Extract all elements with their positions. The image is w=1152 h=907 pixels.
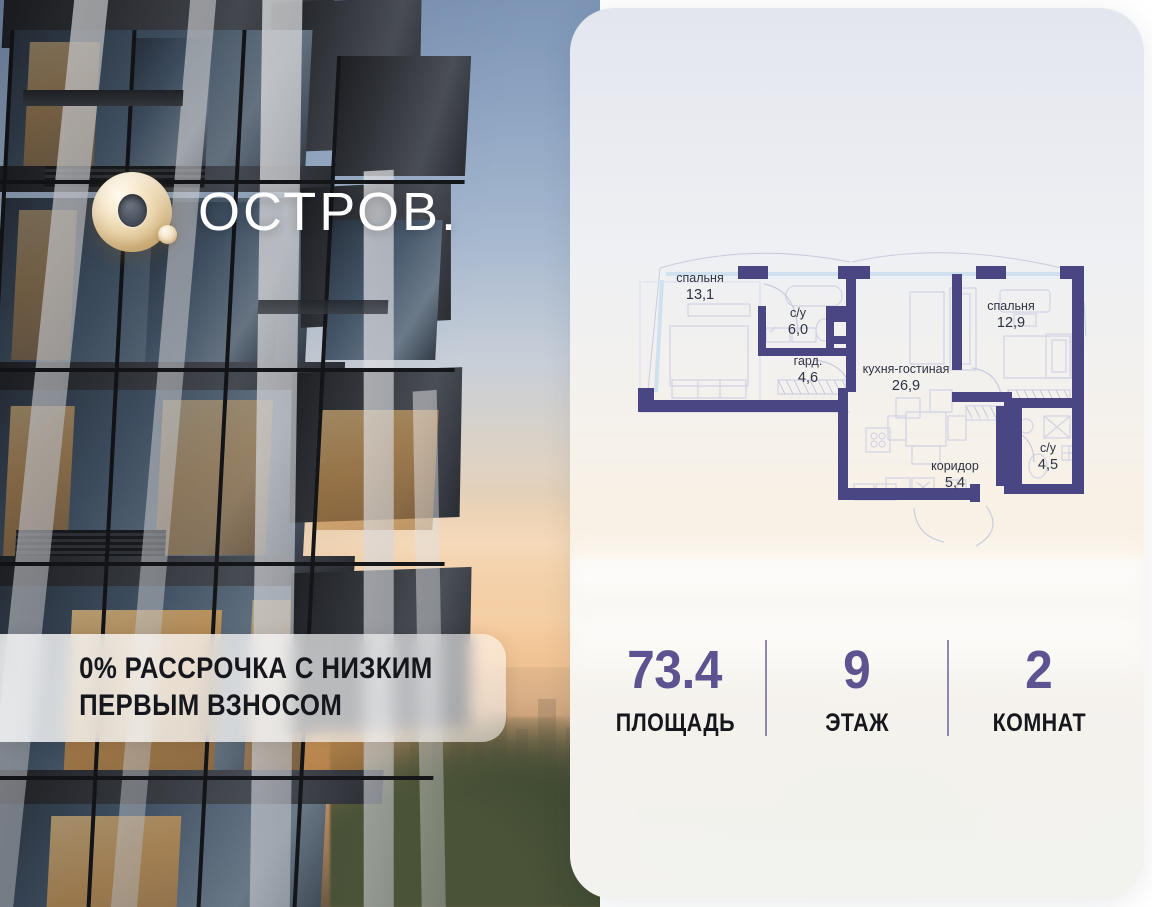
room-label: кухня-гостиная [863, 362, 950, 376]
brand-name: ОСТРОВ. [198, 185, 459, 239]
room-area: 13,1 [686, 287, 714, 303]
promo-banner-page: ОСТРОВ. 0% РАССРОЧКА С НИЗКИМ ПЕРВЫМ ВЗН… [0, 0, 1152, 907]
promo-offer-banner[interactable]: 0% РАССРОЧКА С НИЗКИМ ПЕРВЫМ ВЗНОСОМ [0, 634, 506, 742]
stat-label: ЭТАЖ [825, 709, 889, 738]
room-label: гард. [794, 354, 823, 368]
room-label: с/у [1040, 441, 1057, 455]
building-render-photo [0, 0, 600, 907]
stat-value: 2 [1025, 643, 1052, 697]
stat-divider [765, 640, 767, 736]
floor-plan[interactable]: спальня 13,1 с/у 6,0 гард. 4,6 кухня-гос… [600, 240, 1114, 552]
torus-ring-icon [92, 172, 172, 252]
stat-label: ПЛОЩАДЬ [615, 709, 734, 738]
room-label: спальня [676, 271, 723, 285]
stat-label: КОМНАТ [992, 709, 1085, 738]
room-label: спальня [987, 299, 1034, 313]
room-area: 26,9 [892, 378, 920, 394]
stat-value: 9 [843, 643, 870, 697]
brand-logo[interactable]: ОСТРОВ. [92, 172, 459, 252]
stat-divider [947, 640, 949, 736]
circle-dot-icon [158, 225, 177, 244]
room-label: коридор [931, 459, 979, 473]
apartment-info-card: спальня 13,1 с/у 6,0 гард. 4,6 кухня-гос… [570, 8, 1144, 899]
room-area: 5,4 [945, 475, 965, 491]
stat-floor: 9 ЭТАЖ [781, 643, 933, 738]
photo-overlay [0, 0, 600, 907]
stat-value: 73.4 [628, 643, 723, 697]
room-area: 4,5 [1038, 457, 1058, 473]
room-area: 12,9 [997, 315, 1025, 331]
stat-rooms: 2 КОМНАТ [963, 643, 1115, 738]
room-area: 4,6 [798, 370, 818, 386]
stat-area: 73.4 ПЛОЩАДЬ [599, 643, 751, 738]
room-area: 6,0 [788, 322, 808, 338]
promo-offer-text: 0% РАССРОЧКА С НИЗКИМ ПЕРВЫМ ВЗНОСОМ [0, 651, 433, 724]
room-label: с/у [790, 306, 807, 320]
apartment-stats: 73.4 ПЛОЩАДЬ 9 ЭТАЖ 2 КОМНАТ [570, 640, 1144, 738]
